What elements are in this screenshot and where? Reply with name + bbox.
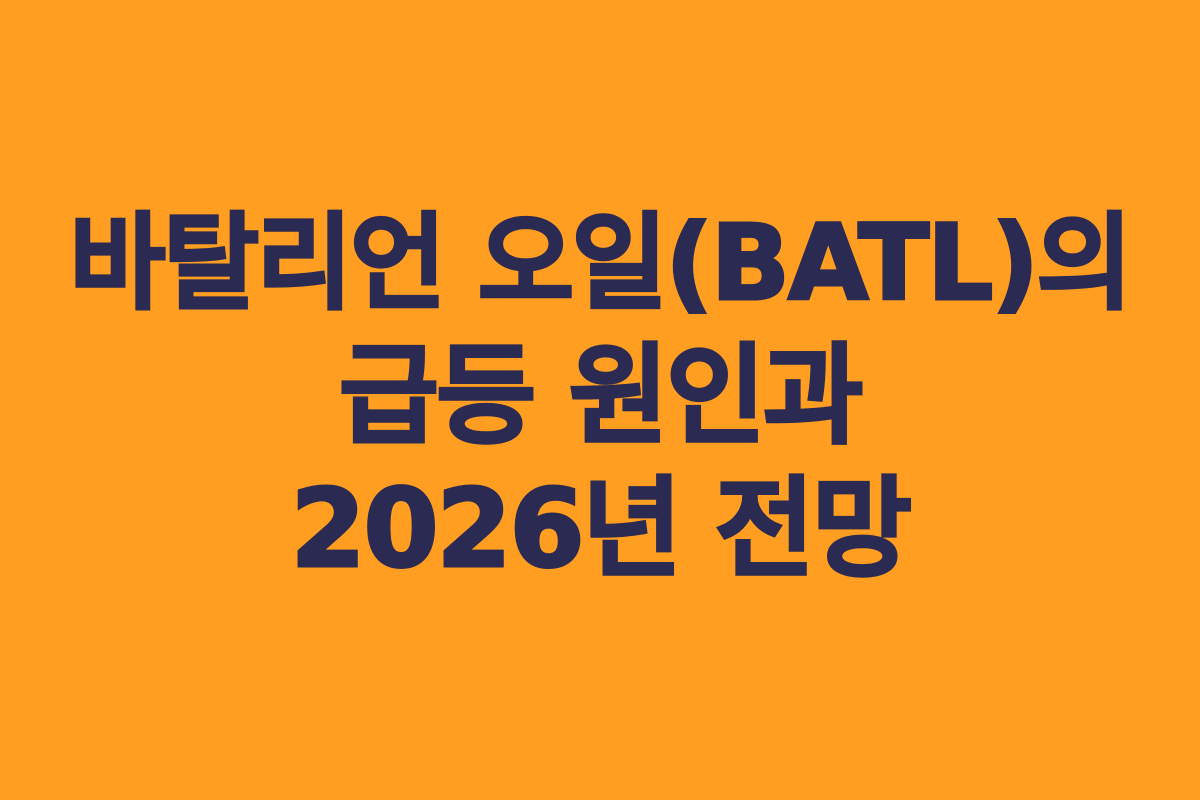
headline-line-2: 급등 원인과 — [339, 330, 860, 463]
headline-line-3: 2026년 전망 — [291, 463, 910, 596]
headline-line-1: 바탈리언 오일(BATL)의 — [70, 197, 1131, 330]
headline-block: 바탈리언 오일(BATL)의 급등 원인과 2026년 전망 — [0, 197, 1200, 596]
title-card: 바탈리언 오일(BATL)의 급등 원인과 2026년 전망 — [0, 0, 1200, 800]
